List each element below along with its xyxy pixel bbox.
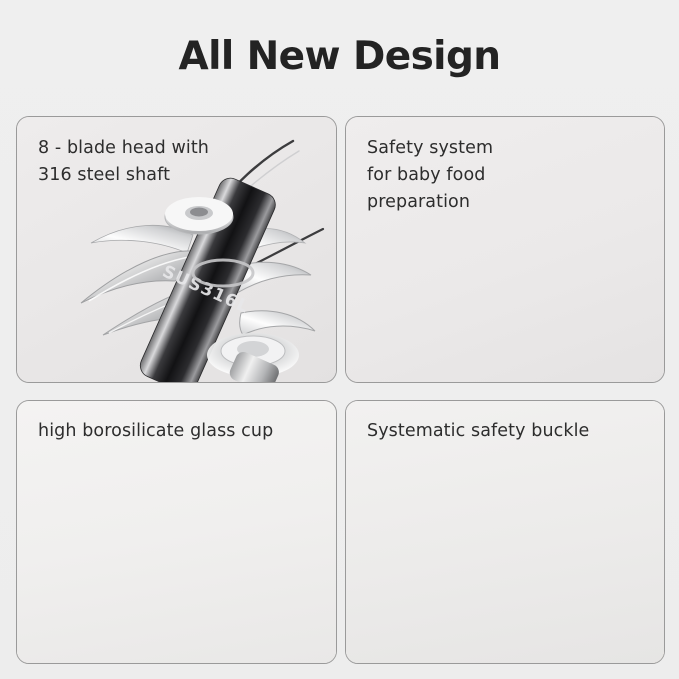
blade-lower-right — [240, 311, 315, 335]
infographic-page: All New Design — [0, 0, 679, 679]
feature-label-blade-head: 8 - blade head with 316 steel shaft — [38, 135, 209, 189]
feature-card-safety-system: Safety system for baby food preparation — [345, 116, 665, 383]
feature-card-glass-cup: high borosilicate glass cup — [16, 400, 337, 664]
page-title: All New Design — [179, 34, 501, 79]
page-title-container: All New Design — [0, 0, 679, 112]
feature-card-grid: SUS316L — [16, 116, 665, 664]
feature-label-safety-system: Safety system for baby food preparation — [367, 135, 493, 216]
feature-label-glass-cup: high borosilicate glass cup — [38, 418, 273, 445]
feature-card-safety-buckle: Systematic safety buckle — [345, 400, 665, 664]
blade-hub-top — [165, 197, 233, 234]
feature-card-blade-head: SUS316L — [16, 116, 337, 383]
feature-label-safety-buckle: Systematic safety buckle — [367, 418, 589, 445]
